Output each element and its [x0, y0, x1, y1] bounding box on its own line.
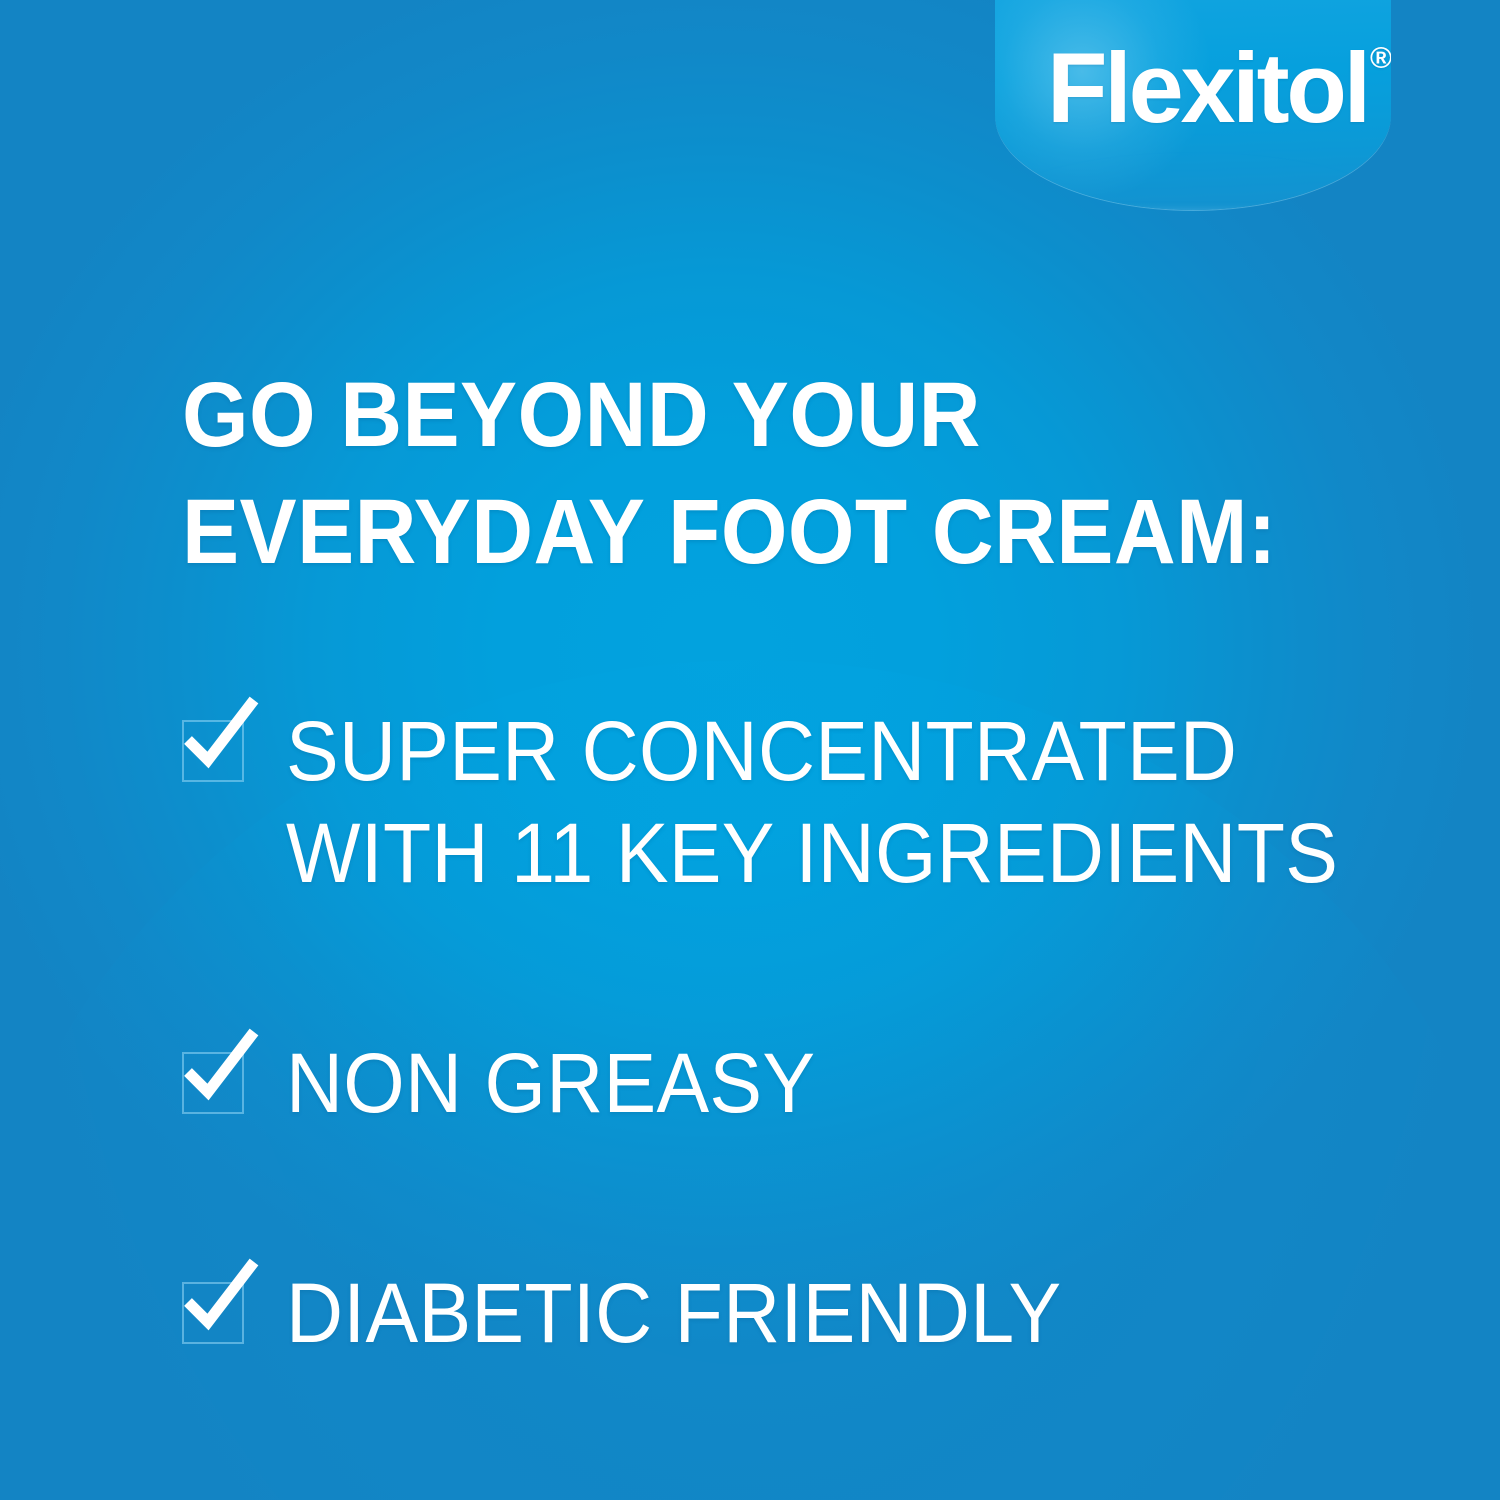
benefit-label-super-concentrated: SUPER CONCENTRATED WITH 11 KEY INGREDIEN…: [286, 700, 1338, 904]
benefit-item-diabetic-friendly: DIABETIC FRIENDLY: [182, 1262, 1402, 1364]
checkbox-super-concentrated: [182, 720, 244, 782]
checkmark-icon: [178, 1256, 264, 1342]
promo-graphic: Flexitol ® GO BEYOND YOUR EVERYDAY FOOT …: [0, 0, 1500, 1500]
registered-trademark-icon: ®: [1370, 44, 1391, 74]
benefit-list: SUPER CONCENTRATED WITH 11 KEY INGREDIEN…: [182, 700, 1402, 1364]
brand-logo-wordmark: Flexitol ®: [1047, 38, 1391, 137]
checkbox-diabetic-friendly: [182, 1282, 244, 1344]
benefit-label-diabetic-friendly: DIABETIC FRIENDLY: [286, 1262, 1062, 1364]
brand-logo-text: Flexitol: [1047, 38, 1368, 137]
benefit-item-non-greasy: NON GREASY: [182, 1032, 1402, 1134]
checkmark-icon: [178, 694, 264, 780]
benefit-line-1: SUPER CONCENTRATED: [286, 700, 1338, 802]
benefit-line-1: DIABETIC FRIENDLY: [286, 1262, 1062, 1364]
page-title: GO BEYOND YOUR EVERYDAY FOOT CREAM:: [182, 357, 1298, 591]
benefit-label-non-greasy: NON GREASY: [286, 1032, 815, 1134]
benefit-line-1: NON GREASY: [286, 1032, 815, 1134]
brand-logo-badge: Flexitol ®: [995, 0, 1391, 210]
benefit-line-2: WITH 11 KEY INGREDIENTS: [286, 802, 1338, 904]
benefit-item-super-concentrated: SUPER CONCENTRATED WITH 11 KEY INGREDIEN…: [182, 700, 1402, 904]
checkbox-non-greasy: [182, 1052, 244, 1114]
page-title-line-2: EVERYDAY FOOT CREAM:: [182, 474, 1298, 591]
page-title-line-1: GO BEYOND YOUR: [182, 357, 1298, 474]
checkmark-icon: [178, 1026, 264, 1112]
